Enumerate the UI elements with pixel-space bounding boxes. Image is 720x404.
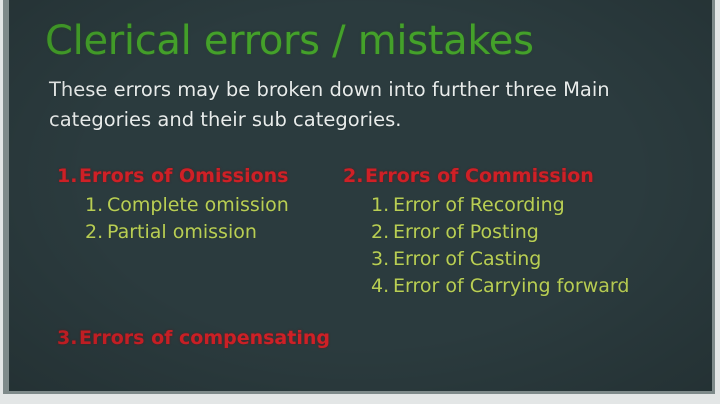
list-item: 4.Error of Carrying forward [371,273,703,300]
section-1-heading: 1.Errors of Omissions [57,163,347,190]
page-surround: Clerical errors / mistakes These errors … [0,0,720,404]
list-item: 1.Complete omission [85,192,347,219]
slide-intro-paragraph: These errors may be broken down into fur… [49,75,689,135]
sub-2-2-number: 2. [371,219,393,246]
section-3-heading: 3.Errors of compensating [57,325,397,352]
section-2-number: 2. [343,163,365,190]
section-2-label: Errors of Commission [365,165,594,187]
list-item: 3.Error of Casting [371,246,703,273]
sub-1-1-number: 1. [85,192,107,219]
slide-frame: Clerical errors / mistakes These errors … [3,0,715,394]
sub-2-4-number: 4. [371,273,393,300]
list-item: 1.Error of Recording [371,192,703,219]
section-1-sublist: 1.Complete omission 2.Partial omission [57,192,347,246]
sub-2-2-label: Error of Posting [393,221,539,243]
intro-line-2: categories and their sub categories. [49,105,689,135]
sub-2-1-number: 1. [371,192,393,219]
sub-1-2-label: Partial omission [107,221,257,243]
sub-2-3-label: Error of Casting [393,248,541,270]
slide-title: Clerical errors / mistakes [45,19,534,63]
section-2-sublist: 1.Error of Recording 2.Error of Posting … [343,192,703,300]
section-3-label: Errors of compensating [79,327,330,349]
sub-1-1-label: Complete omission [107,194,289,216]
section-errors-of-commission: 2.Errors of Commission 1.Error of Record… [343,163,703,300]
presentation-slide: Clerical errors / mistakes These errors … [9,0,712,391]
section-1-number: 1. [57,163,79,190]
intro-line-1: These errors may be broken down into fur… [49,75,689,105]
section-1-label: Errors of Omissions [79,165,288,187]
section-3-number: 3. [57,325,79,352]
section-2-heading: 2.Errors of Commission [343,163,703,190]
list-item: 2.Error of Posting [371,219,703,246]
section-errors-of-omissions: 1.Errors of Omissions 1.Complete omissio… [57,163,347,246]
sub-2-1-label: Error of Recording [393,194,565,216]
sub-2-3-number: 3. [371,246,393,273]
list-item: 2.Partial omission [85,219,347,246]
section-errors-of-compensating: 3.Errors of compensating [57,325,397,352]
sub-2-4-label: Error of Carrying forward [393,275,629,297]
sub-1-2-number: 2. [85,219,107,246]
